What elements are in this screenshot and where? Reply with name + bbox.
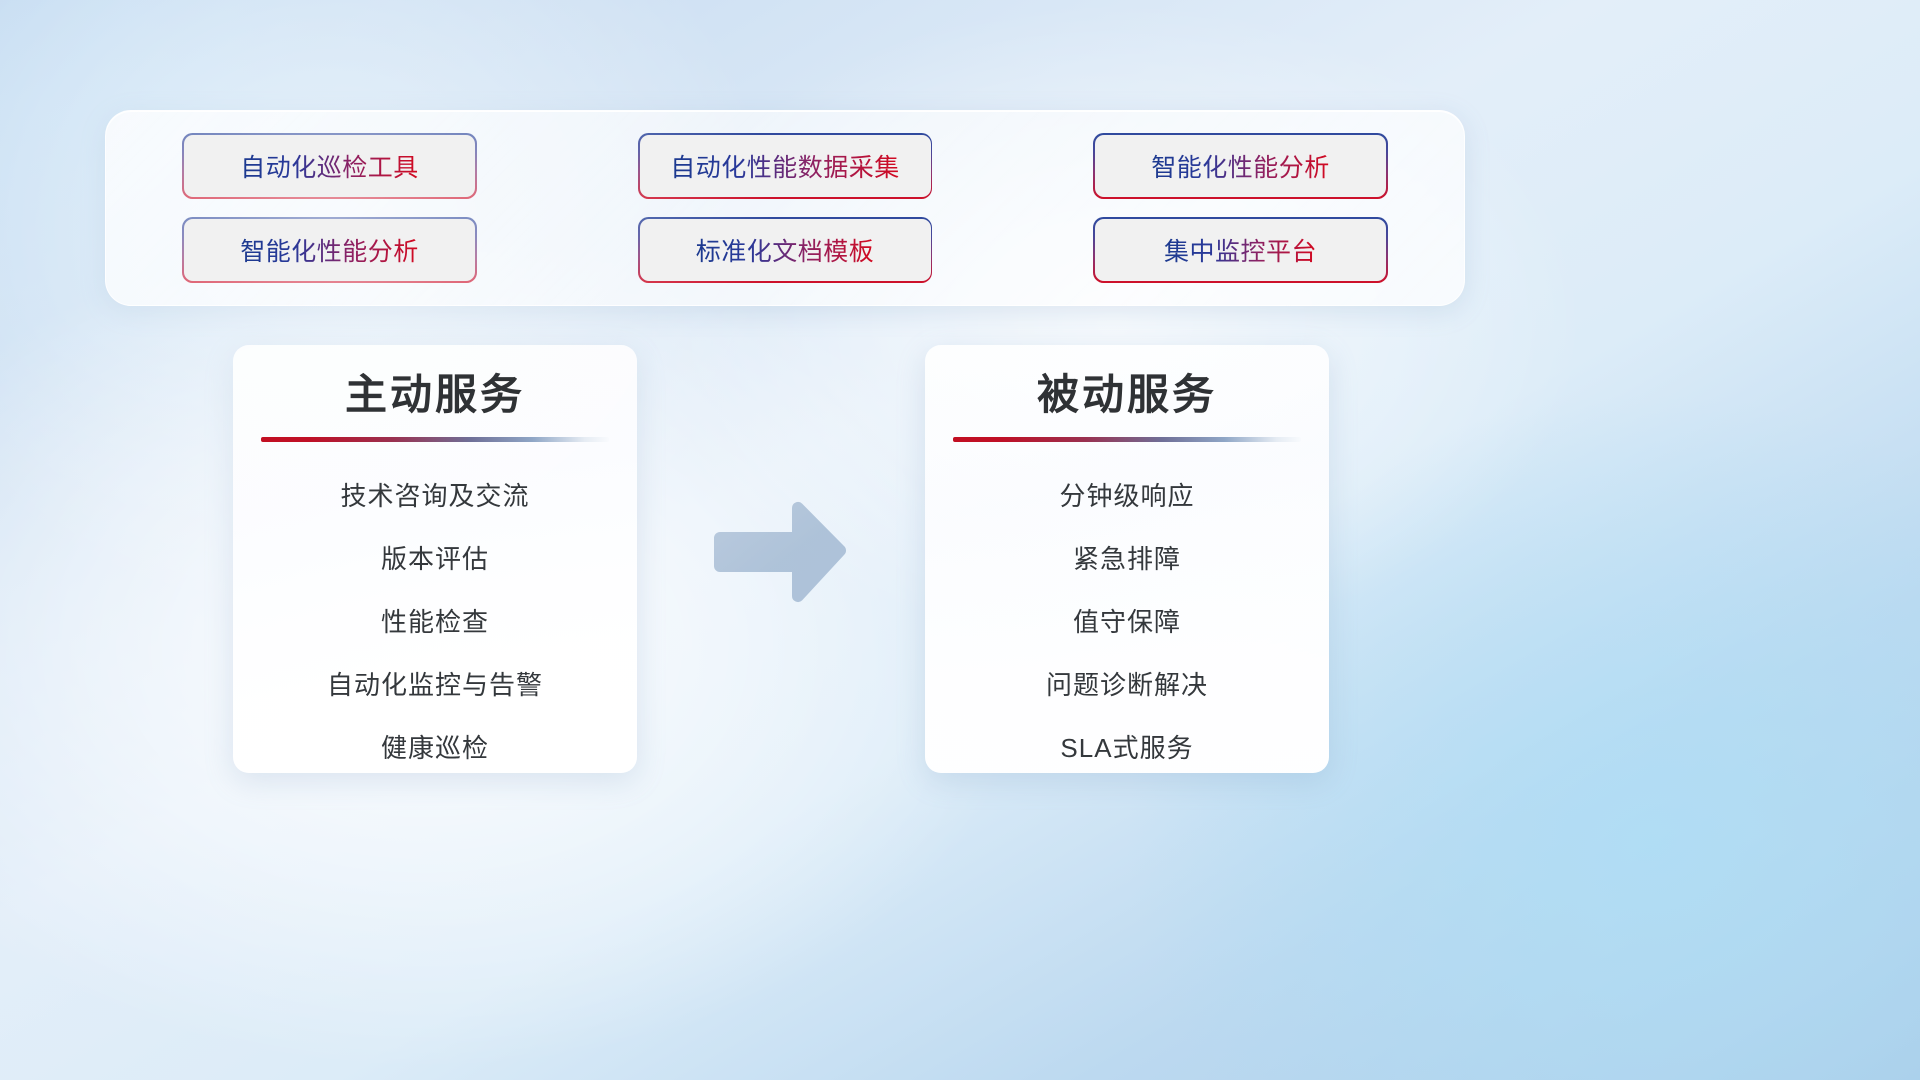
capabilities-panel: 自动化巡检工具 自动化性能数据采集 智能化性能分析 智能化性能分析 标准化文档模… — [105, 110, 1465, 306]
card-list-item: 分钟级响应 — [1059, 476, 1194, 513]
capability-row-2: 智能化性能分析 标准化文档模板 集中监控平台 — [184, 219, 1386, 281]
capability-pill[interactable]: 自动化巡检工具 — [184, 135, 475, 197]
service-card-proactive[interactable]: 主动服务 技术咨询及交流 版本评估 性能检查 自动化监控与告警 健康巡检 — [233, 345, 637, 773]
capability-row-1: 自动化巡检工具 自动化性能数据采集 智能化性能分析 — [184, 135, 1386, 197]
card-list-item: 性能检查 — [381, 602, 489, 639]
card-divider — [261, 437, 609, 442]
capability-pill-label: 自动化性能数据采集 — [670, 148, 900, 184]
card-list-item: 值守保障 — [1073, 602, 1181, 639]
card-title: 主动服务 — [345, 371, 525, 419]
card-list-item: 自动化监控与告警 — [327, 665, 543, 702]
card-list-item: 紧急排障 — [1073, 539, 1181, 576]
capability-pill-label: 自动化巡检工具 — [240, 148, 419, 184]
capability-pill-label: 智能化性能分析 — [1151, 148, 1330, 184]
card-divider — [953, 437, 1301, 442]
capability-pill-label: 集中监控平台 — [1164, 232, 1317, 268]
right-arrow-icon — [714, 500, 850, 604]
card-title: 被动服务 — [1037, 371, 1217, 419]
card-list-item: 问题诊断解决 — [1046, 665, 1208, 702]
capability-pill-label: 智能化性能分析 — [240, 232, 419, 268]
card-list-item: 健康巡检 — [381, 728, 489, 765]
capability-pill[interactable]: 集中监控平台 — [1095, 219, 1386, 281]
card-inner: 主动服务 技术咨询及交流 版本评估 性能检查 自动化监控与告警 健康巡检 — [233, 345, 637, 773]
capability-pill[interactable]: 自动化性能数据采集 — [640, 135, 931, 197]
card-list-item: 技术咨询及交流 — [340, 476, 529, 513]
card-inner: 被动服务 分钟级响应 紧急排障 值守保障 问题诊断解决 SLA式服务 — [925, 345, 1329, 773]
card-item-list: 分钟级响应 紧急排障 值守保障 问题诊断解决 SLA式服务 — [925, 476, 1329, 765]
card-list-item: SLA式服务 — [1060, 728, 1193, 765]
capability-pill[interactable]: 智能化性能分析 — [1095, 135, 1386, 197]
card-list-item: 版本评估 — [381, 539, 489, 576]
capability-pill[interactable]: 标准化文档模板 — [640, 219, 931, 281]
capability-pill-label: 标准化文档模板 — [696, 232, 875, 268]
diagram-stage: 自动化巡检工具 自动化性能数据采集 智能化性能分析 智能化性能分析 标准化文档模… — [0, 0, 1920, 1080]
service-card-reactive[interactable]: 被动服务 分钟级响应 紧急排障 值守保障 问题诊断解决 SLA式服务 — [925, 345, 1329, 773]
capability-pill[interactable]: 智能化性能分析 — [184, 219, 475, 281]
card-item-list: 技术咨询及交流 版本评估 性能检查 自动化监控与告警 健康巡检 — [233, 476, 637, 765]
